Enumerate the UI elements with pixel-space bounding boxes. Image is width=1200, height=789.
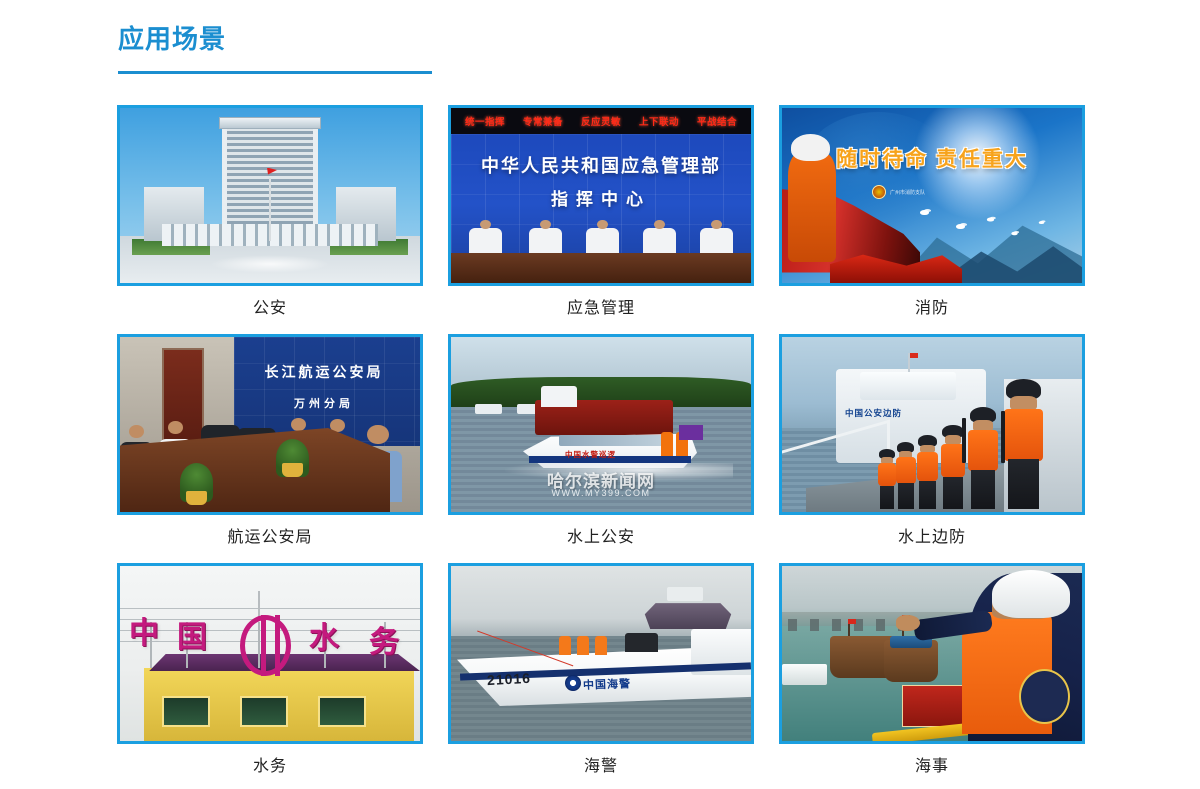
purple-flag-icon <box>679 425 703 441</box>
ship-marking-text: 中国公安边防 <box>845 407 902 419</box>
hull-marking-text: 中国水警巡逻 <box>565 449 616 460</box>
scenario-card-yingji-guanli[interactable]: 统一指挥 专常兼备 反应灵敏 上下联动 平战结合 中华人民共和国应急管理部 指挥… <box>448 105 754 334</box>
rooftop-sign-char: 水 <box>309 613 339 657</box>
image-water-affairs-sign: 中 国 水 务 <box>120 566 420 741</box>
thumbnail-frame[interactable]: 中国公安边防 <box>779 334 1085 515</box>
thumbnail-frame[interactable]: 统一指挥 专常兼备 反应灵敏 上下联动 平战结合 中华人民共和国应急管理部 指挥… <box>448 105 754 286</box>
fire-emblem-icon <box>872 185 886 199</box>
hull-number-text: 21016 <box>487 670 532 688</box>
wall-sign-line2: 指挥中心 <box>451 185 751 210</box>
led-item: 反应灵敏 <box>581 114 621 128</box>
scenario-card-gongan[interactable]: 公安 <box>117 105 423 334</box>
led-item: 上下联动 <box>639 114 679 128</box>
deck-gun <box>625 633 658 652</box>
image-fire-service-poster: 随时待命 责任重大 广州市消防支队 <box>782 108 1082 283</box>
led-item: 专常兼备 <box>523 114 563 128</box>
image-shipping-police-meeting: 长江航运公安局 万州分局 <box>120 337 420 512</box>
rooftop-sign-char: 中 <box>129 608 159 652</box>
image-coast-guard-ship: 21016 中国海警 <box>451 566 751 741</box>
thumbnail-frame[interactable]: 21016 中国海警 <box>448 563 754 744</box>
scenario-grid: 公安 统一指挥 专常兼备 反应灵敏 上下联动 平战结合 中华人民共和国应急管理部… <box>117 105 1085 789</box>
image-water-police-speedboat: 中国水警巡逻 哈尔滨新闻网 WWW.MY399.COM <box>451 337 751 512</box>
scenario-card-hangyun-gonganju[interactable]: 长江航运公安局 万州分局 航运公安局 <box>117 334 423 563</box>
emblem-label: 广州市消防支队 <box>890 189 925 196</box>
card-caption: 海事 <box>779 744 1085 789</box>
card-caption: 公安 <box>117 286 423 334</box>
wall-sign-line2: 万州分局 <box>234 395 414 411</box>
scenario-card-shuishang-gongan[interactable]: 中国水警巡逻 哈尔滨新闻网 WWW.MY399.COM 水上公安 <box>448 334 754 563</box>
scenario-card-xiaofang[interactable]: 随时待命 责任重大 广州市消防支队 消防 <box>779 105 1085 334</box>
thumbnail-frame[interactable] <box>117 105 423 286</box>
thumbnail-frame[interactable]: 长江航运公安局 万州分局 <box>117 334 423 515</box>
scenario-card-haijing[interactable]: 21016 中国海警 海警 <box>448 563 754 789</box>
watermark-url: WWW.MY399.COM <box>451 488 751 498</box>
wall-sign-line1: 长江航运公安局 <box>234 362 414 382</box>
thumbnail-frame[interactable] <box>779 563 1085 744</box>
scenario-card-shuiwu[interactable]: 中 国 水 务 水务 <box>117 563 423 789</box>
card-caption: 应急管理 <box>448 286 754 334</box>
rooftop-sign-char: 国 <box>177 612 207 656</box>
card-caption: 水上边防 <box>779 515 1085 563</box>
white-helmet <box>992 570 1070 618</box>
scenario-card-shuishang-bianfang[interactable]: 中国公安边防 <box>779 334 1085 563</box>
red-equipment-box <box>902 685 968 727</box>
thumbnail-frame[interactable]: 中国水警巡逻 哈尔滨新闻网 WWW.MY399.COM <box>448 334 754 515</box>
thumbnail-frame[interactable]: 中 国 水 务 <box>117 563 423 744</box>
application-scenarios-page: 应用场景 公安 <box>0 0 1200 789</box>
card-caption: 消防 <box>779 286 1085 334</box>
image-water-border-defense: 中国公安边防 <box>782 337 1082 512</box>
led-item: 统一指挥 <box>465 114 505 128</box>
thumbnail-frame[interactable]: 随时待命 责任重大 广州市消防支队 <box>779 105 1085 286</box>
rooftop-sign-char: 务 <box>369 617 399 661</box>
card-caption: 水务 <box>117 744 423 789</box>
led-banner: 统一指挥 专常兼备 反应灵敏 上下联动 平战结合 <box>451 108 751 134</box>
card-caption: 航运公安局 <box>117 515 423 563</box>
section-header: 应用场景 <box>118 20 434 74</box>
card-caption: 海警 <box>448 744 754 789</box>
fire-emblem-row: 广州市消防支队 <box>872 185 925 199</box>
pointing-hand <box>896 615 920 631</box>
title-underline-rule <box>118 71 432 74</box>
scenario-card-haishi[interactable]: 海事 <box>779 563 1085 789</box>
maritime-insignia-icon <box>1019 669 1070 724</box>
led-item: 平战结合 <box>697 114 737 128</box>
image-maritime-safety-officer <box>782 566 1082 741</box>
flag-icon <box>910 353 918 358</box>
image-emergency-command-center: 统一指挥 专常兼备 反应灵敏 上下联动 平战结合 中华人民共和国应急管理部 指挥… <box>451 108 751 283</box>
coast-guard-badge-icon <box>565 674 582 691</box>
panel-speakers <box>451 218 751 253</box>
image-government-building <box>120 108 420 283</box>
wall-sign-line1: 中华人民共和国应急管理部 <box>451 152 751 178</box>
ship-marking-text: 中国海警 <box>583 675 632 693</box>
page-title: 应用场景 <box>118 20 434 58</box>
card-caption: 水上公安 <box>448 515 754 563</box>
water-affairs-logo-icon <box>240 615 291 676</box>
